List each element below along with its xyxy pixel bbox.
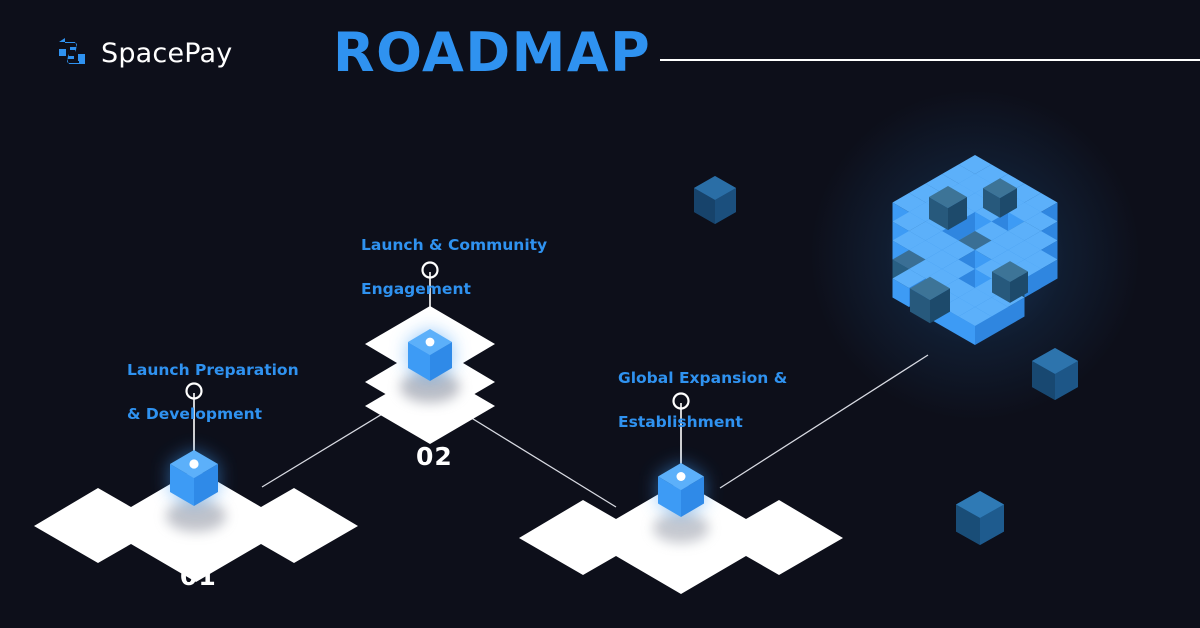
artwork-layer	[0, 0, 1200, 628]
milestone-label-01-line2: & Development	[127, 403, 299, 425]
platform-03-inner-shadow	[653, 513, 709, 543]
floating-cube-3	[956, 491, 1004, 545]
milestone-label-02-line2: Engagement	[361, 278, 547, 300]
brand-logo[interactable]: SpacePay	[55, 36, 232, 70]
milestone-label-03-line2: Establishment	[618, 411, 787, 433]
connector-02-03	[452, 406, 616, 507]
connector-lines	[262, 355, 928, 507]
milestone-label-02: Launch & Community Engagement	[361, 212, 547, 322]
milestone-label-01-line1: Launch Preparation	[127, 359, 299, 381]
brand-name: SpacePay	[101, 40, 232, 67]
milestone-number-02: 02	[416, 442, 453, 471]
milestone-label-03: Global Expansion & Establishment	[618, 345, 787, 455]
page-title: ROADMAP	[333, 26, 651, 80]
milestone-number-01: 01	[180, 562, 217, 591]
title-divider	[660, 59, 1200, 61]
milestone-label-03-line1: Global Expansion &	[618, 367, 787, 389]
spacepay-logo-icon	[55, 36, 89, 70]
floating-cube-1	[694, 176, 736, 224]
milestone-label-02-line1: Launch & Community	[361, 234, 547, 256]
milestone-number-03: 03	[666, 553, 703, 582]
milestone-label-01: Launch Preparation & Development	[127, 337, 299, 447]
roadmap-canvas: SpacePay ROADMAP Launch Preparation & De…	[0, 0, 1200, 628]
